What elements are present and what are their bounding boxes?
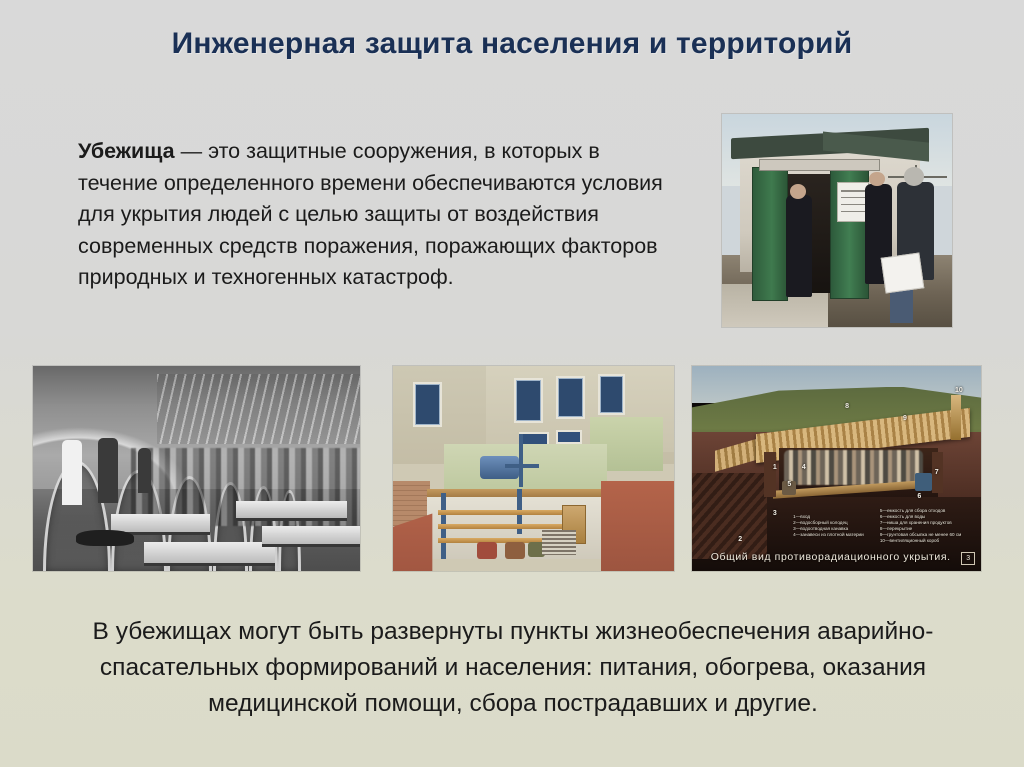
cellar-stairs [542,530,576,555]
ground-right [601,481,674,571]
bed-row-4 [262,526,360,547]
bed-row-2 [144,542,275,566]
water-container [915,473,932,491]
standing-woman [62,440,82,506]
cutaway-illustration-content [393,366,674,571]
legend-right-column: 5—емкость для сбора отходов 6—емкость дл… [880,508,975,544]
ceiling-ribs [157,374,360,444]
intro-paragraph: Убежища — это защитные сооружения, в кот… [78,136,668,294]
callout-number-7: 7 [935,469,939,476]
page-title: Инженерная защита населения и территорий [0,27,1024,61]
metro-photo-content [33,366,360,571]
pillar-1 [764,452,776,497]
man-in-doorway-head [790,184,806,199]
stored-bundle-1 [477,542,497,558]
window-3 [556,376,585,419]
entrance-stairs [692,473,767,559]
callout-number-1: 1 [773,464,777,471]
standing-person-mid [138,448,151,493]
photo-shelter-entrance [722,114,952,327]
bench-2 [438,524,573,529]
intro-dash: — [175,139,208,163]
callout-number-10: 10 [955,387,963,394]
callout-number-5: 5 [787,481,791,488]
green-door-left [752,167,789,301]
held-paper [881,252,924,293]
window-2 [514,378,543,423]
entrance-photo-content [722,114,952,327]
callout-number-8: 8 [845,403,849,410]
vent-pipe-horizontal [505,464,539,468]
callout-number-2: 2 [738,536,742,543]
photo-metro-shelter [33,366,360,571]
bottom-paragraph: В убежищах могут быть развернуты пункты … [22,614,1004,722]
callout-number-4: 4 [802,464,806,471]
entrance-canopy [759,159,881,172]
illustration-radiation-shelter: 1 2 3 4 5 6 7 8 9 10 1—вход 2—водосборны… [692,366,981,571]
legend-left-column: 1—вход 2—водосборный колодец 3—водоотвод… [793,514,874,538]
callout-number-9: 9 [903,415,907,422]
diagram-caption: Общий вид противорадиационного укрытия. [704,551,958,563]
man-in-doorway [786,195,811,297]
intro-lead-term: Убежища [78,139,175,163]
standing-person-dark [98,438,118,504]
callout-number-6: 6 [917,493,921,500]
diagram-corner-mark: 3 [961,552,975,565]
ventilation-duct [951,395,961,440]
stored-bundle-2 [505,542,525,558]
bench-1 [438,510,573,515]
window-basement-2 [556,430,582,444]
dog-on-floor [76,530,135,546]
slide-canvas: Инженерная защита населения и территорий… [0,0,1024,767]
window-1 [413,382,442,427]
bed-row-3 [236,501,347,520]
illustration-basement-shelter [393,366,674,571]
radiation-illustration-content: 1 2 3 4 5 6 7 8 9 10 1—вход 2—водосборны… [692,366,981,571]
callout-number-3: 3 [773,510,777,517]
window-4 [598,374,624,415]
vent-pipe-vertical [519,434,523,487]
